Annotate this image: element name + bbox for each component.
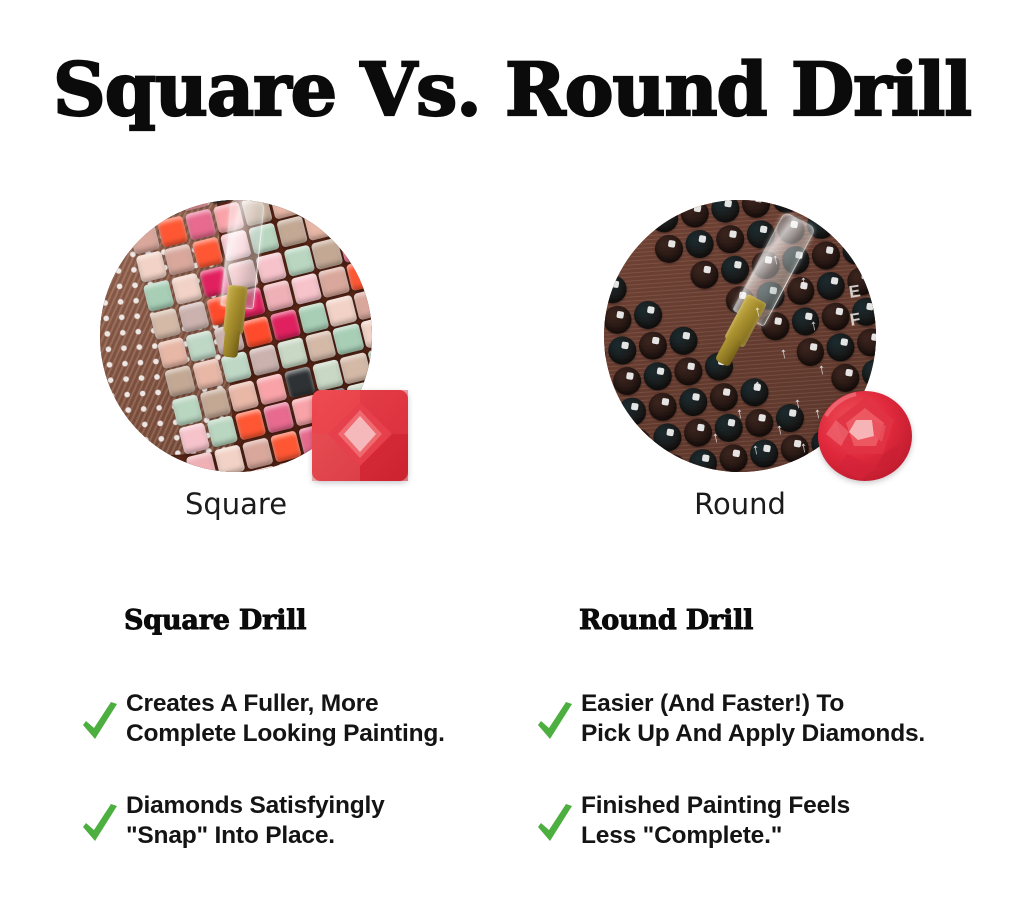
square-bead (276, 216, 308, 249)
check-icon (80, 701, 120, 743)
round-bead (604, 200, 614, 213)
round-bead (841, 234, 873, 266)
round-bead (743, 407, 775, 439)
square-bead (227, 380, 259, 413)
square-bead (269, 309, 301, 342)
round-bead (625, 457, 657, 472)
round-bead (723, 284, 755, 316)
round-bead (825, 331, 857, 363)
round-bead (667, 325, 699, 357)
square-bead (206, 294, 238, 327)
round-bead (820, 300, 852, 332)
square-bead (241, 316, 273, 349)
list-item: Easier (And Faster!) To Pick Up And Appl… (535, 689, 985, 749)
round-gem-icon (816, 390, 914, 483)
square-bead (311, 359, 343, 392)
round-bead (744, 218, 776, 250)
square-bead (290, 273, 322, 306)
square-bead (220, 351, 252, 384)
round-bead (677, 386, 709, 418)
square-drill-column: Square Drill Creates A Fuller, More Comp… (80, 605, 510, 893)
check-icon (535, 701, 575, 743)
round-bead (653, 233, 685, 265)
round-bead (678, 200, 710, 229)
round-bead (830, 362, 862, 394)
round-bead (775, 213, 807, 245)
round-bead (789, 305, 821, 337)
square-bead (212, 201, 244, 234)
square-bead (157, 337, 189, 370)
round-bead (606, 334, 638, 366)
list-item: Creates A Fuller, More Complete Looking … (80, 689, 510, 749)
round-bead (784, 275, 816, 307)
square-bead (178, 301, 210, 334)
square-bead (185, 330, 217, 363)
square-bead (227, 258, 259, 291)
round-bead (770, 200, 802, 215)
square-bead (269, 430, 301, 463)
page-title: Square Vs. Round Drill (0, 48, 1024, 132)
square-bead (199, 387, 231, 420)
square-bead (255, 373, 287, 406)
list-item: Diamonds Satisfyingly "Snap" Into Place. (80, 791, 510, 851)
round-bead (831, 200, 863, 205)
square-drill-photo (100, 200, 372, 472)
round-drill-bullets: Easier (And Faster!) To Pick Up And Appl… (535, 689, 985, 851)
round-bead (794, 336, 826, 368)
square-gem-icon (310, 388, 410, 483)
round-bead (714, 223, 746, 255)
round-bead (672, 355, 704, 387)
round-bead (748, 437, 780, 469)
square-bead (213, 323, 245, 356)
square-bead (199, 265, 231, 298)
round-photo-caption: Round (604, 487, 876, 521)
square-bead (206, 416, 238, 449)
round-bead (656, 452, 688, 472)
square-bead (262, 402, 294, 435)
round-bead (612, 200, 644, 208)
square-bead (163, 244, 195, 277)
square-bead (325, 295, 357, 328)
square-bead (346, 259, 372, 292)
round-bead (611, 365, 643, 397)
round-bead (800, 200, 832, 210)
round-bead (604, 400, 617, 432)
square-bead (178, 423, 210, 456)
round-bead (871, 230, 876, 262)
square-bead (135, 251, 167, 284)
square-bead (241, 437, 273, 470)
square-bead (220, 230, 252, 263)
round-bead (641, 360, 673, 392)
square-bead (234, 287, 266, 320)
round-bead (621, 426, 653, 458)
round-bead (749, 249, 781, 281)
square-bead (276, 337, 308, 370)
round-bead (805, 209, 837, 241)
round-bead (855, 326, 876, 358)
check-icon (80, 803, 120, 845)
square-drill-heading: Square Drill (124, 605, 510, 637)
round-bead (637, 330, 669, 362)
round-drill-heading: Round Drill (579, 605, 985, 637)
check-icon (535, 803, 575, 845)
round-bead (866, 200, 876, 231)
square-bead (318, 266, 350, 299)
round-bead (688, 259, 720, 291)
round-bead (739, 200, 771, 220)
round-bead (719, 254, 751, 286)
round-bead (683, 228, 715, 260)
round-bead (604, 273, 628, 305)
square-bead (304, 209, 336, 242)
round-bead (717, 442, 749, 472)
round-bead (780, 244, 812, 276)
round-bead (604, 431, 622, 463)
square-bead (142, 279, 174, 312)
list-item-label: Finished Painting Feels Less "Complete." (581, 791, 850, 851)
round-bead (860, 357, 876, 389)
round-bead (643, 200, 675, 204)
square-bead (283, 244, 315, 277)
round-bead (616, 396, 648, 428)
infographic-page: Square Vs. Round Drill (0, 0, 1024, 923)
round-bead (752, 468, 784, 472)
round-bead (604, 462, 627, 472)
square-bead (234, 409, 266, 442)
round-drill-column: Round Drill Easier (And Faster!) To Pick… (535, 605, 985, 893)
round-drill-photo: E F ↑↑↑↑↑↑↑↑↑↑↑↑↑↑ (604, 200, 876, 472)
square-bead (128, 222, 160, 255)
square-bead (248, 223, 280, 256)
round-bead (707, 381, 739, 413)
round-bead (810, 239, 842, 271)
square-bead (332, 323, 364, 356)
square-bead (184, 208, 216, 241)
round-bead (815, 270, 847, 302)
round-bead (738, 376, 770, 408)
round-bead (709, 200, 741, 225)
square-bead (192, 358, 224, 391)
square-bead (171, 272, 203, 305)
round-bead (617, 207, 649, 239)
round-bead (759, 310, 791, 342)
square-bead (248, 344, 280, 377)
round-bead (773, 402, 805, 434)
square-bead (332, 202, 364, 235)
canvas-letter-e: E (847, 281, 861, 303)
round-bead (651, 421, 683, 453)
square-bead (191, 237, 223, 270)
round-bead (604, 339, 607, 371)
list-item: Finished Painting Feels Less "Complete." (535, 791, 985, 851)
round-bead (646, 391, 678, 423)
round-bead (604, 370, 612, 402)
square-bead (164, 365, 196, 398)
list-item-label: Creates A Fuller, More Complete Looking … (126, 689, 445, 749)
square-bead (262, 280, 294, 313)
round-bead (632, 299, 664, 331)
square-bead (185, 451, 217, 472)
round-bead (648, 202, 680, 234)
square-bead (255, 251, 287, 284)
square-bead (304, 330, 336, 363)
square-bead (297, 302, 329, 335)
round-bead (687, 447, 719, 472)
round-bead (783, 463, 815, 472)
square-bead (311, 238, 343, 271)
square-bead (156, 215, 188, 248)
list-item-label: Diamonds Satisfyingly "Snap" Into Place. (126, 791, 385, 851)
round-bead (703, 350, 735, 382)
square-bead (150, 308, 182, 341)
round-bead (778, 433, 810, 465)
square-drill-bullets: Creates A Fuller, More Complete Looking … (80, 689, 510, 851)
round-bead (754, 280, 786, 312)
square-bead (213, 444, 245, 472)
round-bead (712, 412, 744, 444)
round-bead (604, 304, 633, 336)
list-item-label: Easier (And Faster!) To Pick Up And Appl… (581, 689, 925, 749)
round-bead (836, 204, 868, 236)
square-bead (339, 231, 371, 264)
square-photo-caption: Square (100, 487, 372, 521)
square-bead (339, 352, 371, 385)
round-bead (682, 417, 714, 449)
square-bead (171, 394, 203, 427)
